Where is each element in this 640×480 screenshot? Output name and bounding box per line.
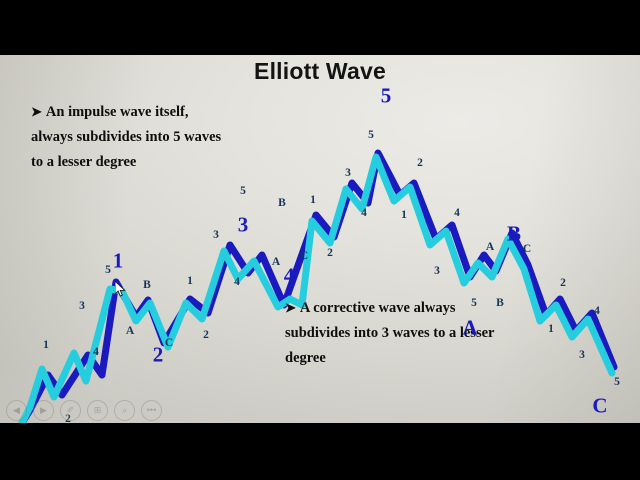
- note-impulse-wave: ➤An impulse wave itself, always subdivid…: [31, 99, 231, 175]
- zoom-tool-icon[interactable]: ⌕: [114, 400, 135, 421]
- page-title: Elliott Wave: [0, 58, 640, 85]
- more-options-icon[interactable]: •••: [141, 400, 162, 421]
- note-corrective-text: A corrective wave always subdivides into…: [285, 300, 494, 366]
- bullet-arrow-icon: ➤: [31, 104, 42, 119]
- bullet-arrow-icon: ➤: [285, 300, 296, 315]
- letterbox-top: [0, 0, 640, 55]
- presentation-slide: Elliott Wave 12345ABC 12345ABC12345ABC12…: [0, 55, 640, 423]
- presentation-toolbar[interactable]: ◀▶✐⊞⌕•••: [6, 400, 162, 421]
- previous-slide-icon[interactable]: ◀: [6, 400, 27, 421]
- letterbox-bottom: [0, 423, 640, 480]
- note-corrective-wave: ➤A corrective wave always subdivides int…: [285, 295, 515, 371]
- sub-wave-line: [22, 157, 612, 423]
- pen-tool-icon[interactable]: ✐: [60, 400, 81, 421]
- screenshot-root: Elliott Wave 12345ABC 12345ABC12345ABC12…: [0, 0, 640, 480]
- slide-grid-icon[interactable]: ⊞: [87, 400, 108, 421]
- next-slide-icon[interactable]: ▶: [33, 400, 54, 421]
- note-impulse-text: An impulse wave itself, always subdivide…: [31, 104, 221, 170]
